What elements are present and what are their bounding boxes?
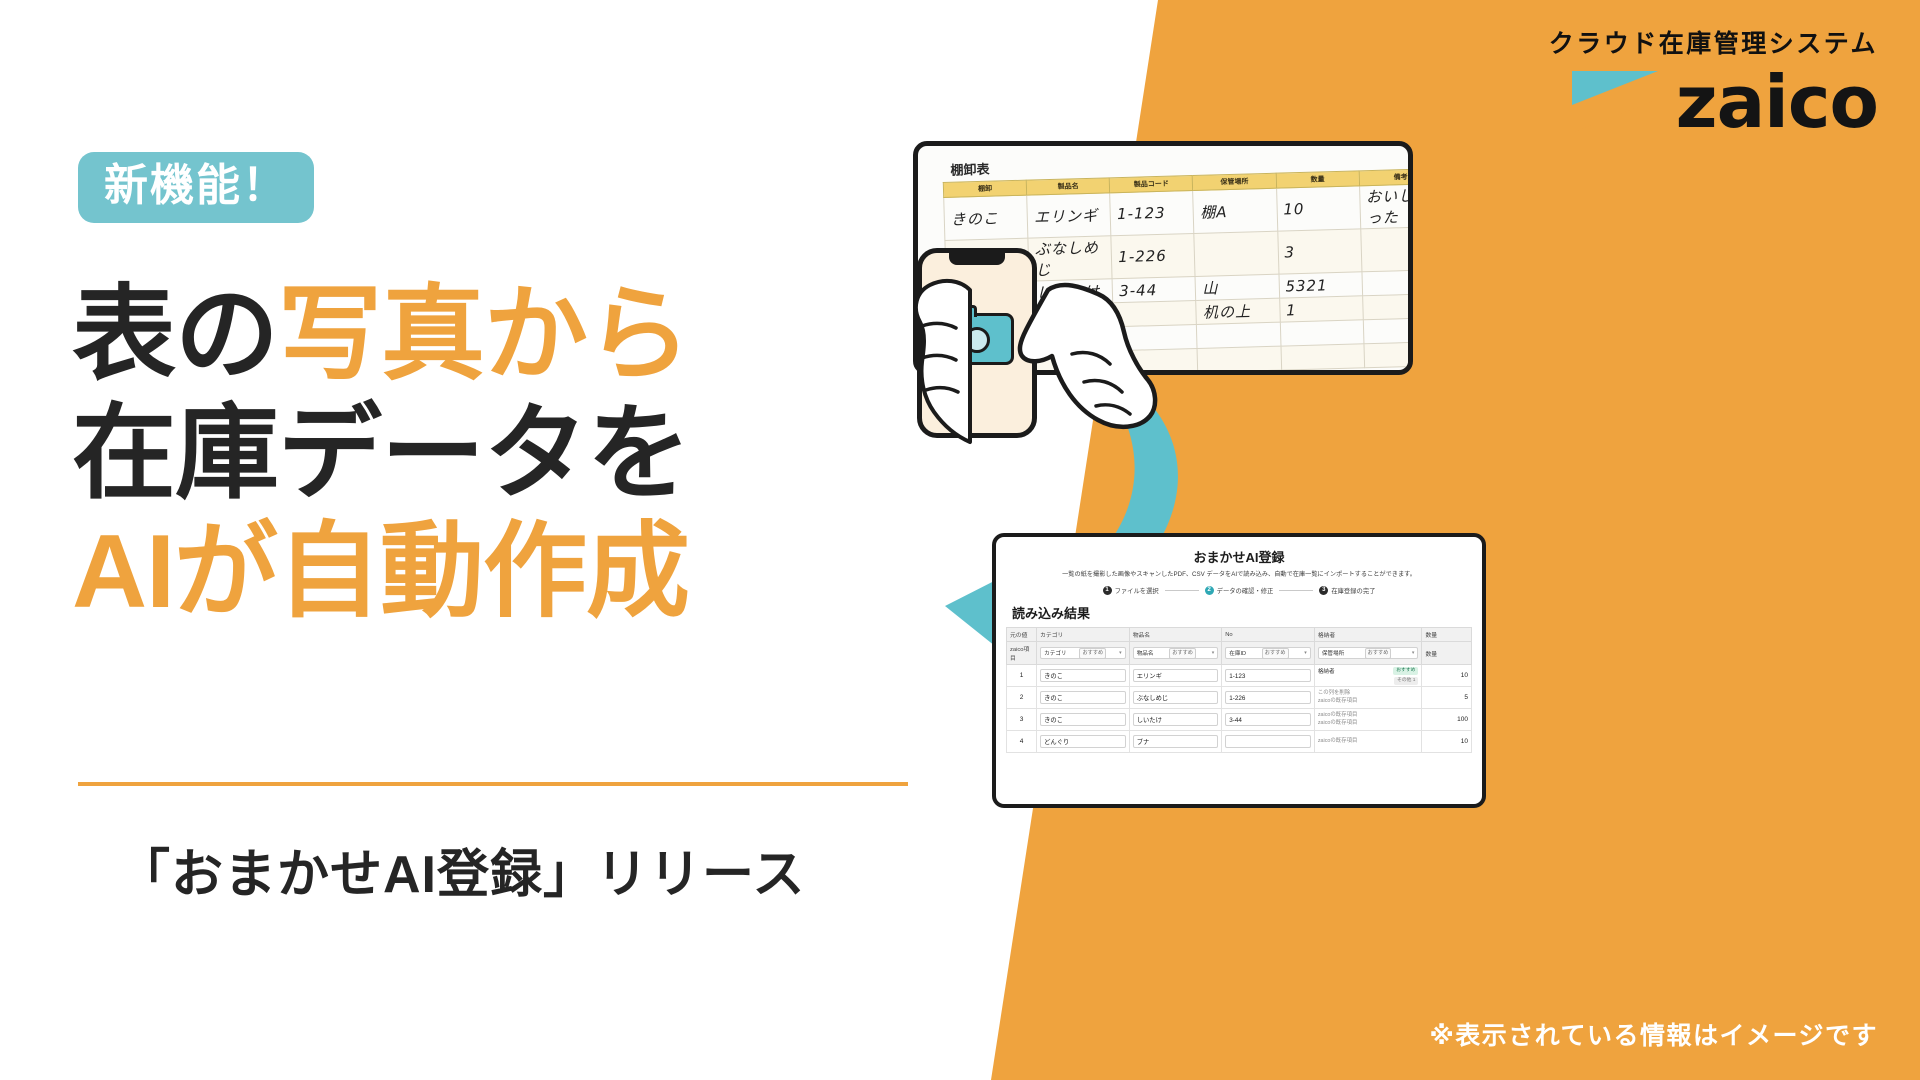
step-1-label: ファイルを選択 — [1115, 586, 1159, 595]
headline-line-1: 表の写真から — [72, 276, 690, 395]
row-category[interactable]: きのこ — [1037, 687, 1130, 709]
step-2-number: 2 — [1205, 586, 1214, 595]
paper-cell-place: 山 — [1195, 274, 1279, 300]
paper-cell-note — [1361, 227, 1413, 272]
new-feature-badge: 新機能！ — [78, 152, 314, 223]
app-panel-title: おまかせAI登録 — [1006, 547, 1472, 566]
mapping-item-name[interactable]: 物品名 おすすめ ▾ — [1129, 642, 1222, 665]
row-storage-recommend-tag: おすすめ — [1393, 667, 1418, 675]
release-subtitle: 「おまかせAI登録」リリース — [118, 832, 805, 907]
app-stepper: 1 ファイルを選択 2 データの確認・修正 3 在庫登録の完了 — [1006, 586, 1472, 595]
row-storage-option-existing[interactable]: zaicoの既存項目 — [1318, 738, 1419, 746]
row-category-value: きのこ — [1040, 713, 1126, 726]
mapping-location-field: 保管場所 — [1322, 649, 1344, 657]
step-verify-data[interactable]: 2 データの確認・修正 — [1205, 586, 1274, 595]
paper-cell-place: 棚A — [1193, 188, 1277, 233]
headline-line-3: AIが自動作成 — [72, 513, 690, 632]
step-3-label: 在庫登録の完了 — [1331, 586, 1375, 595]
step-2-label: データの確認・修正 — [1217, 586, 1274, 595]
row-item-value: エリンギ — [1133, 669, 1219, 682]
row-item-value: ぶなしめじ — [1133, 691, 1219, 704]
mapping-qty[interactable]: 数量 — [1422, 642, 1472, 665]
row-number: 3 — [1007, 709, 1037, 731]
row-item-name[interactable]: ぶなしめじ — [1129, 687, 1222, 709]
paper-col-5: 備考 — [1359, 169, 1413, 186]
mapping-stockid-hint: おすすめ — [1262, 648, 1289, 659]
headline-block: 表の写真から 在庫データを AIが自動作成 — [72, 276, 690, 632]
row-number: 4 — [1007, 731, 1037, 753]
row-item-value: しいたけ — [1133, 713, 1219, 726]
row-storage-option-existing[interactable]: zaicoの既存項目 — [1318, 698, 1419, 706]
col-item-name: 物品名 — [1129, 628, 1222, 642]
logo-row: zaico — [1549, 66, 1878, 138]
logo-wordmark: zaico — [1676, 66, 1878, 138]
result-heading: 読み込み結果 — [1012, 603, 1472, 622]
headline-line-1-black: 表の — [72, 277, 278, 393]
row-item-name[interactable]: エリンギ — [1129, 665, 1222, 687]
headline-line-2: 在庫データを — [72, 395, 690, 514]
row-qty: 5 — [1422, 687, 1472, 709]
col-category: カテゴリ — [1037, 628, 1130, 642]
mapping-location-hint: おすすめ — [1365, 648, 1392, 659]
row-code-value — [1225, 735, 1311, 748]
disclaimer-note: ※表示されている情報はイメージです — [1429, 1016, 1878, 1052]
row-storage[interactable]: 格納者 おすすめ その他 1 — [1314, 665, 1422, 687]
row-category-value: きのこ — [1040, 691, 1126, 704]
col-original-value: 元の値 — [1007, 628, 1037, 642]
row-storage-option-remove[interactable]: この列を削除 — [1318, 690, 1419, 698]
row-item-value: ブナ — [1133, 735, 1219, 748]
headline-line-1-orange: 写真から — [278, 277, 690, 393]
row-storage-option-existing[interactable]: zaicoの既存項目 — [1318, 720, 1419, 728]
table-header-row-mapping: zaico項目 カテゴリ おすすめ ▾ 物品名 おすすめ ▾ — [1007, 642, 1472, 665]
row-storage[interactable]: zaicoの既存項目 zaicoの既存項目 — [1314, 709, 1422, 731]
row-qty: 100 — [1422, 709, 1472, 731]
row-storage-option-existing[interactable]: zaicoの既存項目 — [1318, 712, 1419, 720]
row-storage[interactable]: zaicoの既存項目 — [1314, 731, 1422, 753]
row-category-value: きのこ — [1040, 669, 1126, 682]
row-code-value: 3-44 — [1225, 713, 1311, 726]
zaico-logo-block: クラウド在庫管理システム zaico — [1549, 24, 1878, 138]
mapping-location[interactable]: 保管場所 おすすめ ▾ — [1314, 642, 1422, 665]
row-storage-other-tag: その他 1 — [1394, 677, 1418, 685]
mapping-category[interactable]: カテゴリ おすすめ ▾ — [1037, 642, 1130, 665]
row-qty: 10 — [1422, 665, 1472, 687]
paper-cell-place: 机の上 — [1196, 298, 1280, 324]
mapping-category-field: カテゴリ — [1044, 649, 1066, 657]
step-select-file[interactable]: 1 ファイルを選択 — [1103, 586, 1159, 595]
row-number: 1 — [1007, 665, 1037, 687]
left-content-column: 新機能！ 表の写真から 在庫データを AIが自動作成 「おまかせAI登録」リリー… — [0, 0, 1010, 1080]
chevron-down-icon: ▾ — [1212, 650, 1215, 656]
mapping-stock-id[interactable]: 在庫ID おすすめ ▾ — [1222, 642, 1315, 665]
row-storage-label: 格納者 — [1318, 667, 1335, 675]
row-item-name[interactable]: ブナ — [1129, 731, 1222, 753]
mapping-item-field: 物品名 — [1137, 649, 1154, 657]
row-qty: 10 — [1422, 731, 1472, 753]
import-result-table: 元の値 カテゴリ 物品名 No 格納者 数量 zaico項目 カテゴリ おすすめ… — [1006, 627, 1472, 753]
paper-cell-note: おいしかった — [1359, 184, 1413, 229]
zaico-field-label: zaico項目 — [1007, 642, 1037, 665]
step-3-number: 3 — [1319, 586, 1328, 595]
mapping-category-hint: おすすめ — [1079, 648, 1106, 659]
row-storage[interactable]: この列を削除 zaicoの既存項目 — [1314, 687, 1422, 709]
mapping-stockid-field: 在庫ID — [1229, 649, 1246, 657]
paper-cell-place — [1194, 231, 1278, 276]
row-number: 2 — [1007, 687, 1037, 709]
step-complete[interactable]: 3 在庫登録の完了 — [1319, 586, 1375, 595]
row-code[interactable]: 1-226 — [1222, 687, 1315, 709]
chevron-down-icon: ▾ — [1412, 650, 1415, 656]
col-qty: 数量 — [1422, 628, 1472, 642]
zaico-z-mark-icon — [1572, 71, 1658, 133]
table-row: 3 きのこ しいたけ 3-44 zaicoの既存項目 zaicoの既存項目 10… — [1007, 709, 1472, 731]
paper-cell-qty: 10 — [1276, 186, 1360, 231]
paper-cell-qty: 3 — [1277, 229, 1361, 274]
row-code-value: 1-226 — [1225, 691, 1311, 704]
row-item-name[interactable]: しいたけ — [1129, 709, 1222, 731]
headline-divider — [78, 782, 908, 786]
table-row: 4 どんぐり ブナ zaicoの既存項目 10 — [1007, 731, 1472, 753]
row-code[interactable]: 1-123 — [1222, 665, 1315, 687]
chevron-down-icon: ▾ — [1304, 650, 1307, 656]
paper-cell-note — [1362, 293, 1413, 319]
row-code-value: 1-123 — [1225, 669, 1311, 682]
row-category[interactable]: どんぐり — [1037, 731, 1130, 753]
table-header-row-original: 元の値 カテゴリ 物品名 No 格納者 数量 — [1007, 628, 1472, 642]
paper-cell-qty: 5321 — [1279, 272, 1363, 298]
app-panel-description: 一覧の紙を撮影した画像やスキャンしたPDF、CSV データをAIで読み込み、自動… — [1006, 571, 1472, 579]
paper-cell-note — [1362, 270, 1413, 296]
row-code[interactable]: 3-44 — [1222, 709, 1315, 731]
mapping-item-hint: おすすめ — [1169, 648, 1196, 659]
step-connector — [1279, 590, 1313, 591]
hand-illustration — [900, 230, 1160, 530]
step-1-number: 1 — [1103, 586, 1112, 595]
step-connector — [1165, 590, 1199, 591]
row-category[interactable]: きのこ — [1037, 709, 1130, 731]
paper-cell-qty: 1 — [1279, 296, 1363, 322]
paper-cell-code: 1-123 — [1110, 191, 1194, 236]
row-code[interactable] — [1222, 731, 1315, 753]
row-category-value: どんぐり — [1040, 735, 1126, 748]
chevron-down-icon: ▾ — [1119, 650, 1122, 656]
app-screenshot-panel: おまかせAI登録 一覧の紙を撮影した画像やスキャンしたPDF、CSV データをA… — [992, 533, 1486, 808]
col-storage: 格納者 — [1314, 628, 1422, 642]
table-row: 2 きのこ ぶなしめじ 1-226 この列を削除 zaicoの既存項目 5 — [1007, 687, 1472, 709]
col-no: No — [1222, 628, 1315, 642]
row-category[interactable]: きのこ — [1037, 665, 1130, 687]
logo-tagline: クラウド在庫管理システム — [1549, 24, 1878, 60]
table-row: 1 きのこ エリンギ 1-123 格納者 おすすめ その他 1 10 — [1007, 665, 1472, 687]
